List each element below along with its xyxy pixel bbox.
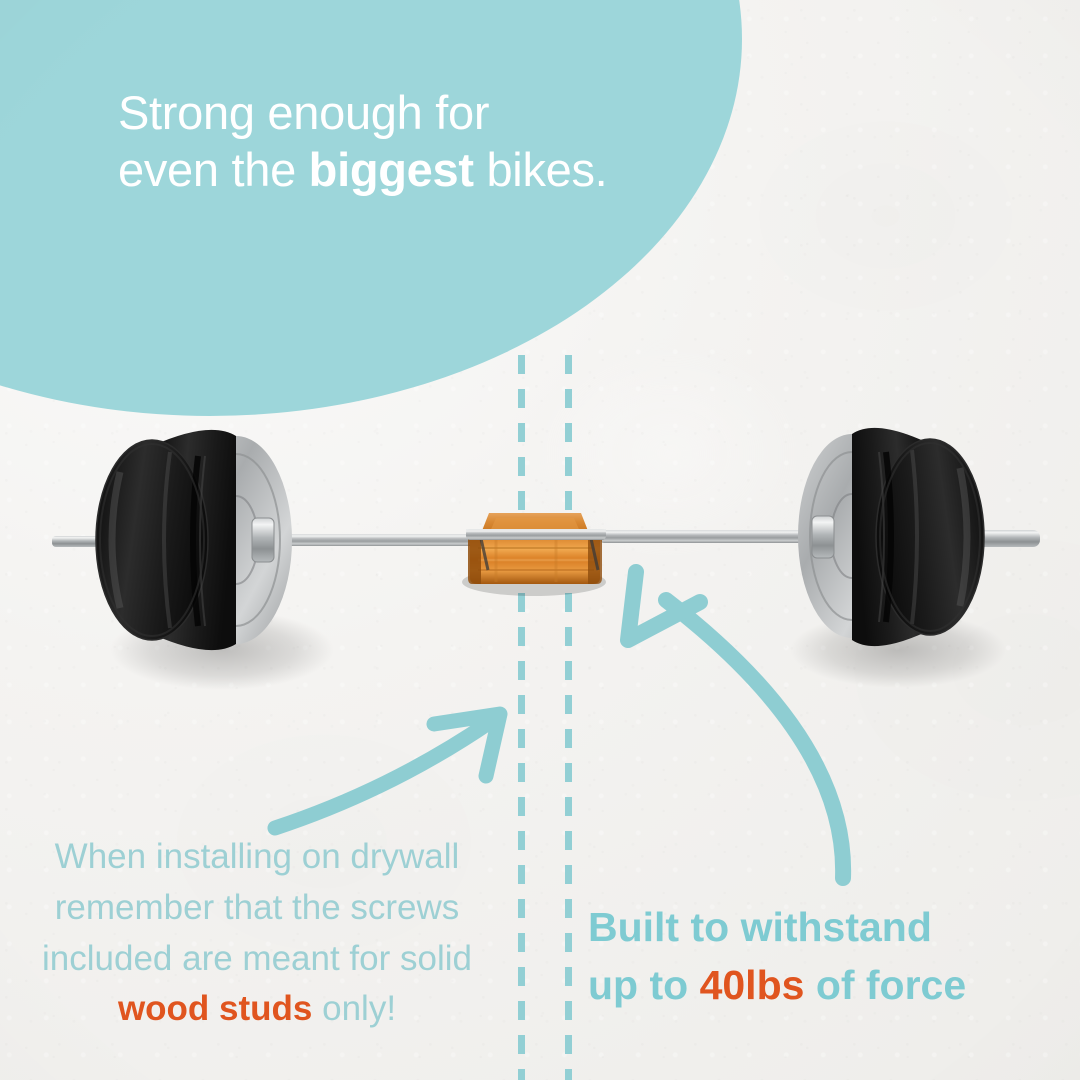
load-rating-note: Built to withstand up to 40lbs of force: [588, 898, 1080, 1014]
right-weight-plates: [798, 428, 984, 646]
bar-highlight: [466, 529, 606, 532]
load-rating-line-2-post: of force: [804, 962, 966, 1008]
load-rating-accent: 40lbs: [700, 962, 805, 1008]
drywall-note-line-1: When installing on drywall: [55, 837, 460, 876]
arrow-up-right-icon: [275, 714, 500, 828]
load-rating-line-1: Built to withstand: [588, 904, 932, 950]
wall-hook: [462, 513, 606, 596]
drywall-note-line-2: remember that the screws: [55, 888, 460, 927]
arrow-up-left-icon: [628, 572, 843, 878]
drywall-note: When installing on drywall remember that…: [8, 832, 506, 1035]
load-rating-line-2-pre: up to: [588, 962, 700, 1008]
left-weight-plates: [96, 430, 292, 650]
promo-graphic: Strong enough for even the biggest bikes…: [0, 0, 1080, 1080]
drywall-note-line-4-post: only!: [312, 989, 396, 1028]
drywall-note-line-3: included are meant for solid: [42, 939, 472, 978]
drywall-note-accent: wood studs: [118, 989, 312, 1028]
